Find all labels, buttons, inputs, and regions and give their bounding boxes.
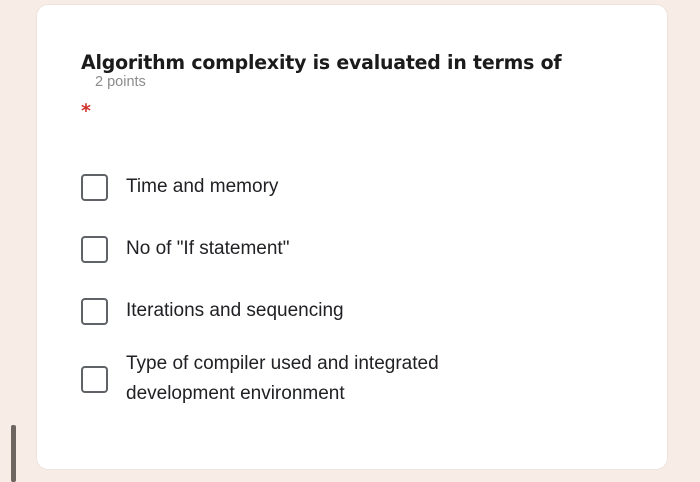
checkbox-icon[interactable] <box>81 298 108 325</box>
checkbox-icon[interactable] <box>81 236 108 263</box>
option-label: Iterations and sequencing <box>126 296 344 326</box>
vertical-scrollbar-thumb[interactable] <box>11 425 16 482</box>
question-title-row: Algorithm complexity is evaluated in ter… <box>81 51 637 90</box>
question-header: Algorithm complexity is evaluated in ter… <box>81 51 637 121</box>
checkbox-icon[interactable] <box>81 366 108 393</box>
option-row[interactable]: Iterations and sequencing <box>81 287 637 335</box>
option-label: Type of compiler used and integrated dev… <box>126 349 546 409</box>
question-title: Algorithm complexity is evaluated in ter… <box>81 51 561 74</box>
option-row[interactable]: Type of compiler used and integrated dev… <box>81 349 637 409</box>
points-label: 2 points <box>95 74 146 90</box>
option-row[interactable]: No of "If statement" <box>81 225 637 273</box>
options-list: Time and memory No of "If statement" Ite… <box>81 163 637 409</box>
required-asterisk: * <box>81 102 637 121</box>
question-card: Algorithm complexity is evaluated in ter… <box>36 4 668 470</box>
option-label: No of "If statement" <box>126 234 289 264</box>
option-row[interactable]: Time and memory <box>81 163 637 211</box>
option-label: Time and memory <box>126 172 278 202</box>
checkbox-icon[interactable] <box>81 174 108 201</box>
vertical-scrollbar-track[interactable] <box>4 0 14 482</box>
